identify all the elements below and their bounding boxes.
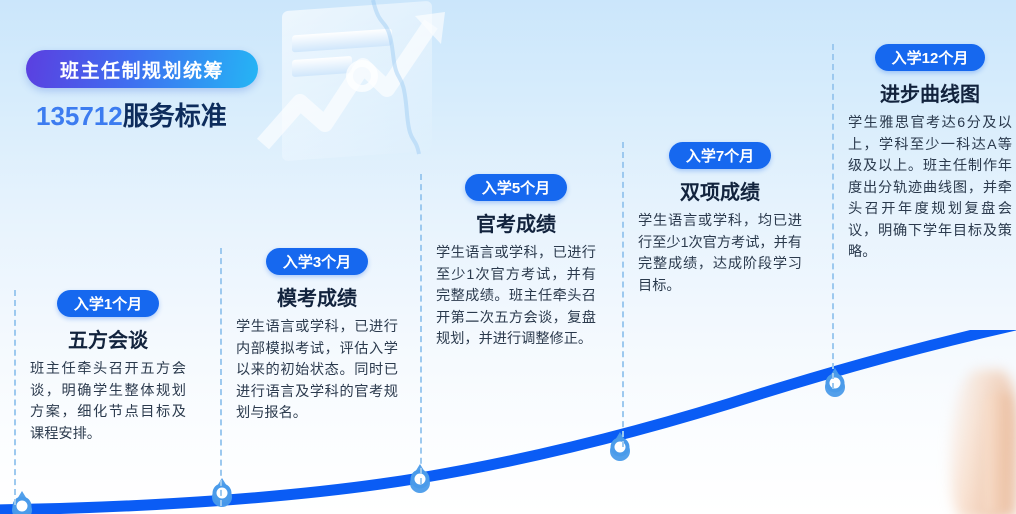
milestone-5-badge-row: 入学12个月	[848, 44, 1012, 71]
milestone-3-badge: 入学5个月	[465, 174, 567, 201]
milestone-column-2: 入学3个月 模考成绩 学生语言或学科，已进行内部模拟考试，评估入学以来的初始状态…	[220, 248, 398, 506]
infographic-canvas: 班主任制规划统筹 135712服务标准 入学1个月 五方会谈 班主任牵头召开五方…	[0, 0, 1016, 514]
milestone-column-3: 入学5个月 官考成绩 学生语言或学科，已进行至少1次官方考试，并有完整成绩。班主…	[420, 174, 596, 484]
background-donut-shape	[346, 60, 378, 92]
milestone-4-title: 双项成绩	[638, 176, 802, 205]
milestone-5-body: 学生雅思官考达6分及以上，学科至少一科达A等级及以上。班主任制作年度出分轨迹曲线…	[848, 113, 1012, 264]
milestone-1-badge: 入学1个月	[57, 290, 159, 317]
milestone-4-badge: 入学7个月	[669, 142, 771, 169]
milestone-1-title: 五方会谈	[30, 324, 186, 353]
title-subtitle-text: 服务标准	[123, 101, 227, 131]
milestone-3-title: 官考成绩	[436, 208, 596, 237]
title-block: 班主任制规划统筹 135712服务标准	[26, 50, 286, 133]
milestone-1-body: 班主任牵头召开五方会谈，明确学生整体规划方案，细化节点目标及课程安排。	[30, 359, 186, 445]
milestone-column-1: 入学1个月 五方会谈 班主任牵头召开五方会谈，明确学生整体规划方案，细化节点目标…	[14, 290, 186, 505]
background-bar-shape-2	[292, 56, 352, 77]
milestone-2-body: 学生语言或学科，已进行内部模拟考试，评估入学以来的初始状态。同时已进行语言及学科…	[236, 317, 398, 425]
milestone-2-badge: 入学3个月	[266, 248, 368, 275]
title-pill: 班主任制规划统筹	[26, 50, 258, 88]
milestone-column-4: 入学7个月 双项成绩 学生语言或学科，均已进行至少1次官方考试，并有完整成绩，达…	[622, 142, 802, 447]
title-subtitle: 135712服务标准	[26, 96, 286, 133]
title-pill-label: 班主任制规划统筹	[60, 56, 224, 83]
milestone-1-badge-row: 入学1个月	[30, 290, 186, 317]
milestone-3-badge-row: 入学5个月	[436, 174, 596, 201]
background-arrow-chart-art	[255, 0, 485, 174]
milestone-5-badge: 入学12个月	[875, 44, 986, 71]
background-document-shape	[282, 1, 432, 161]
milestone-2-title: 模考成绩	[236, 282, 398, 311]
background-bar-shape-1	[292, 29, 392, 53]
milestone-column-5: 入学12个月 进步曲线图 学生雅思官考达6分及以上，学科至少一科达A等级及以上。…	[832, 44, 1012, 389]
milestone-4-badge-row: 入学7个月	[638, 142, 802, 169]
milestone-3-body: 学生语言或学科，已进行至少1次官方考试，并有完整成绩。班主任牵头召开第二次五方会…	[436, 243, 596, 351]
milestone-4-body: 学生语言或学科，均已进行至少1次官方考试，并有完整成绩，达成阶段学习目标。	[638, 211, 802, 297]
title-number: 135712	[36, 101, 123, 131]
milestone-2-badge-row: 入学3个月	[236, 248, 398, 275]
milestone-5-title: 进步曲线图	[848, 78, 1012, 107]
